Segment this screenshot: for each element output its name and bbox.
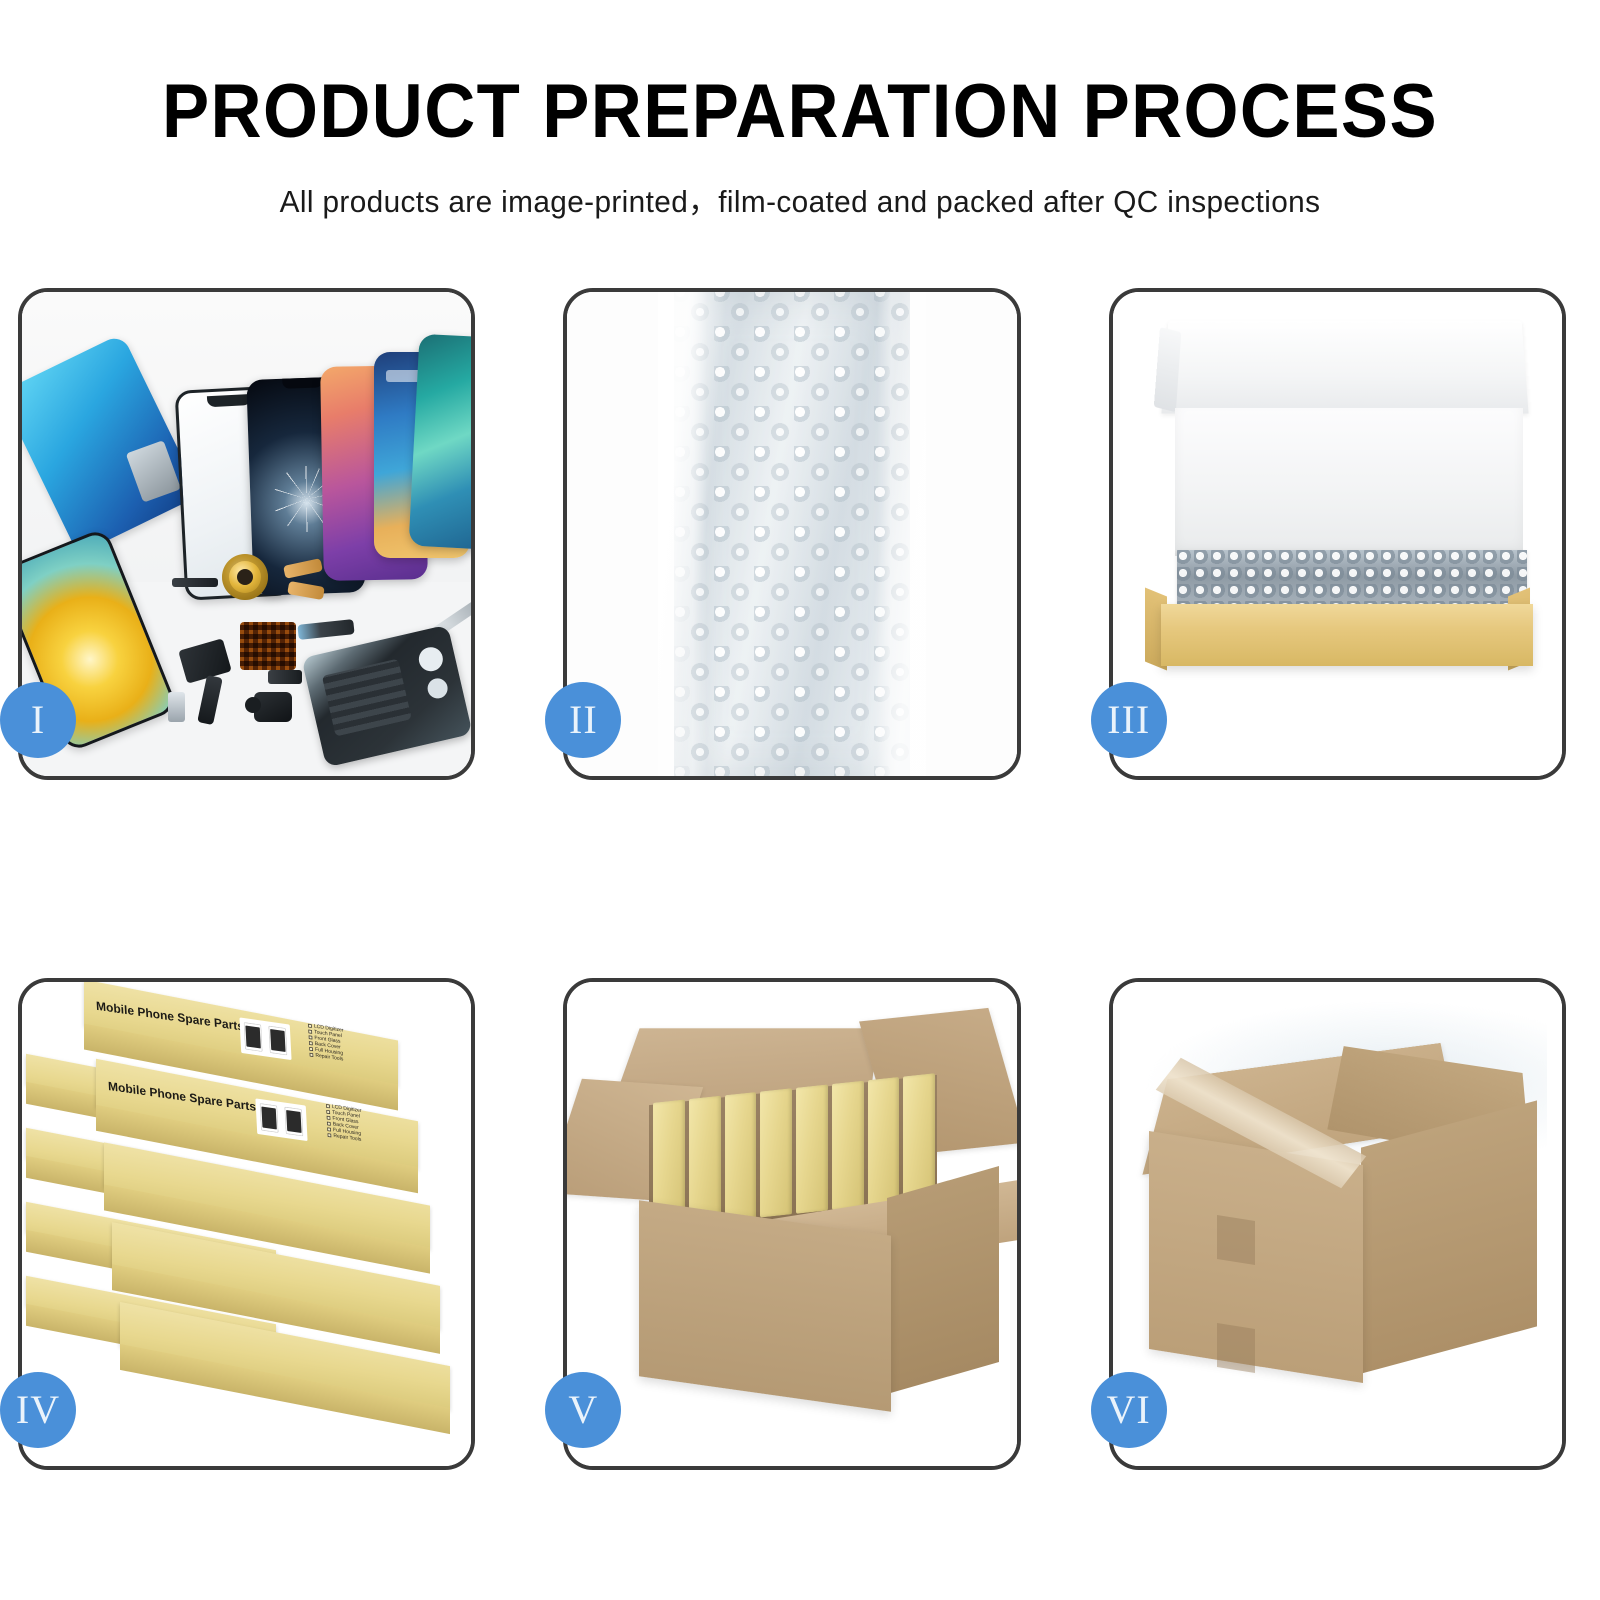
carton-front-panel [639,1200,891,1411]
open-carton-illustration [567,982,1016,1466]
step-panel-4[interactable]: Mobile Phone Spare Parts LCD Digitizer [18,978,475,1470]
sim-tray-icon [168,692,185,722]
step-image-retail-box-stack: Mobile Phone Spare Parts LCD Digitizer [22,982,471,1466]
box-white-liner [1175,408,1523,556]
phone-thumbnail-back [283,1105,305,1139]
gold-box-in-carton [761,1088,793,1217]
page-subtitle: All products are image-printed，film-coat… [32,176,1568,221]
wireless-charging-coil-icon [222,554,268,600]
step-panel-3[interactable]: III [1109,288,1566,780]
step-badge-1: I [0,682,76,758]
gold-box-in-carton [725,1092,757,1221]
checkbox-icon [310,1053,314,1057]
box-lid-flap [1161,320,1528,413]
checkbox-icon [308,1030,312,1034]
sealed-carton-side-panel [1361,1100,1537,1373]
checkbox-icon [309,1035,313,1039]
box-front-panel [1161,604,1533,666]
parts-collage-illustration [22,292,471,776]
step-panel-2[interactable]: II [563,288,1020,780]
phone-thumbnail-back [267,1024,289,1058]
phone-chassis-icon [301,625,471,768]
checkbox-icon [328,1133,332,1137]
step-image-open-carton [567,982,1016,1466]
retail-box-thumbnails-2 [255,1098,307,1141]
step-image-parts-collage [22,292,471,776]
retail-box-brand-text-1: Mobile Phone Spare Parts [96,999,245,1034]
carton-side-panel [887,1166,999,1394]
tape-tab-lower [1217,1323,1255,1373]
step-panel-1[interactable]: I [18,288,475,780]
step-image-inner-box [1113,292,1562,776]
page-title: PRODUCT PREPARATION PROCESS [56,74,1544,150]
step-image-bubble-wrap [567,292,1016,776]
open-mailer-box-illustration [1113,292,1562,776]
checkbox-icon [309,1047,313,1051]
teal-gradient-phone-icon [409,334,472,551]
page-header: PRODUCT PREPARATION PROCESS All products… [0,0,1600,221]
step-badge-2: II [545,682,621,758]
speaker-bar-icon [172,578,218,587]
gold-box-in-carton [796,1084,828,1213]
bubble-wrap-film-overlay [658,292,926,776]
checkbox-icon [326,1110,330,1114]
flex-cable-e-icon [297,619,354,640]
small-ic-icon [268,670,302,684]
phone-thumbnail-front [258,1101,280,1135]
gold-box-in-carton [904,1073,936,1202]
checkbox-icon [327,1127,331,1131]
bubble-wrapped-product [1177,550,1527,608]
step-badge-5: V [545,1372,621,1448]
phone-thumbnail-front [242,1020,264,1054]
flex-cable-a-icon [178,638,232,683]
step-panel-5[interactable]: V [563,978,1020,1470]
retail-box-brand-text-2: Mobile Phone Spare Parts [108,1079,257,1114]
step-badge-4: IV [0,1372,76,1448]
step-badge-3: III [1091,682,1167,758]
step-panel-6[interactable]: VI [1109,978,1566,1470]
ic-chip-icon [240,622,296,670]
gold-box-in-carton [689,1096,721,1225]
gold-box-stack-illustration: Mobile Phone Spare Parts LCD Digitizer [22,982,471,1466]
flex-cable-b-icon [197,675,223,725]
checkbox-icon [327,1116,331,1120]
checkbox-icon [327,1122,331,1126]
gold-box-in-carton [832,1081,864,1210]
retail-box-checklist-2: LCD Digitizer Touch Panel Front Glass [326,1103,363,1142]
bubble-wrap-illustration [567,292,1016,776]
retail-box-checklist-1: LCD Digitizer Touch Panel Front Glass [308,1023,345,1062]
checkbox-icon [326,1104,330,1108]
checkbox-icon [308,1024,312,1028]
process-steps-row-2: Mobile Phone Spare Parts LCD Digitizer [18,978,1566,1470]
step-badge-6: VI [1091,1372,1167,1448]
sealed-carton-illustration [1113,982,1562,1466]
gold-box-side [120,1344,450,1434]
process-steps-grid: I II [18,288,1566,1470]
camera-module-icon [254,692,292,722]
gold-box-in-carton [868,1077,900,1206]
tape-tab-upper [1217,1215,1255,1265]
process-steps-row-1: I II [18,288,1566,780]
retail-box-thumbnails-1 [239,1017,291,1060]
checkbox-icon [309,1041,313,1045]
step-image-sealed-carton [1113,982,1562,1466]
